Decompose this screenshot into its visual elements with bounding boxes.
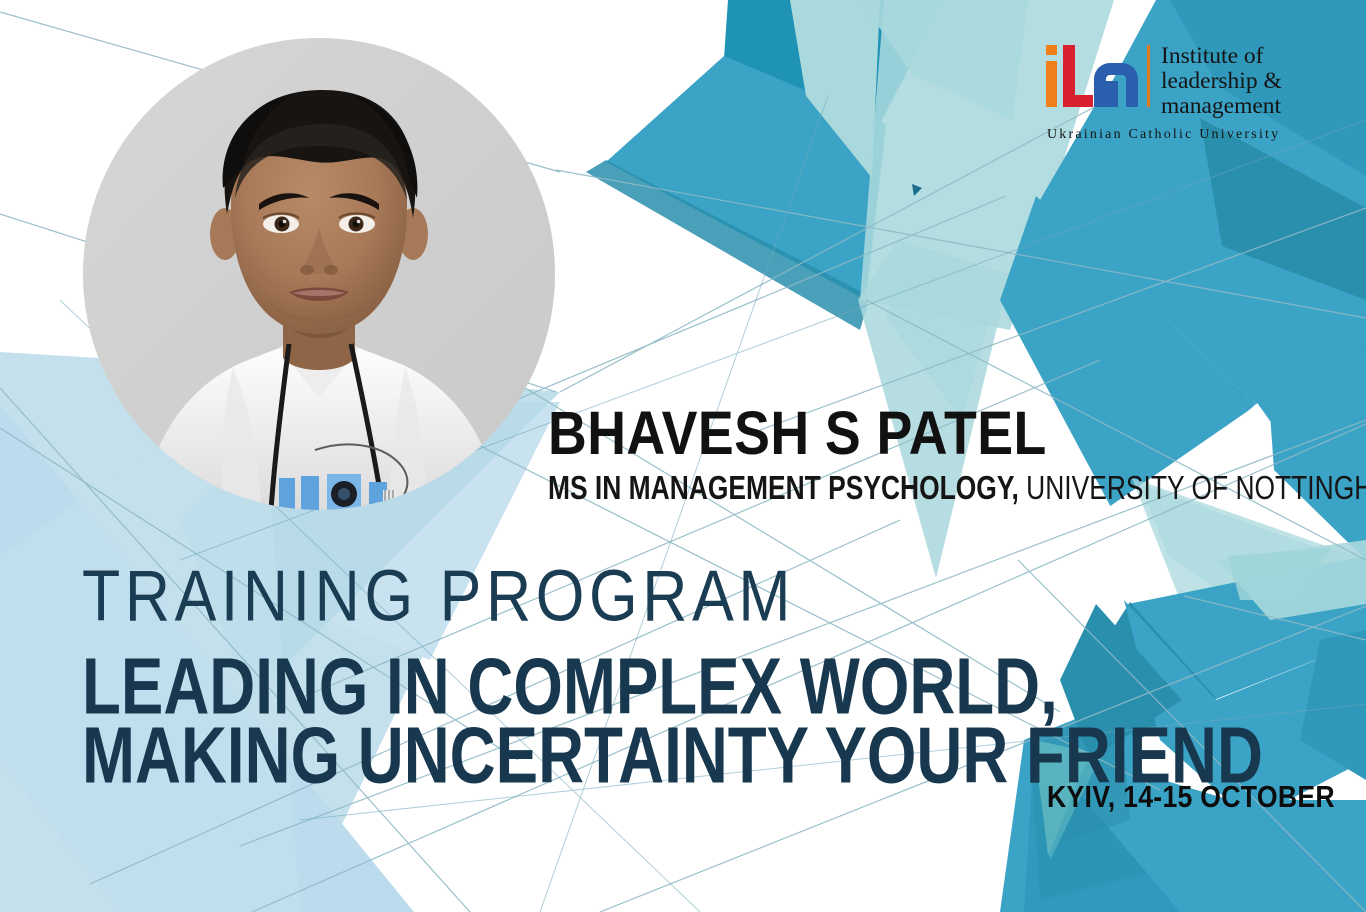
poster-canvas: BHAVESH S PATEL MS IN MANAGEMENT PSYCHOL…: [0, 0, 1366, 912]
logo-wordmark: Institute of leadership & management: [1161, 43, 1282, 119]
program-title-line-2: MAKING UNCERTAINTY YOUR FRIEND: [82, 719, 942, 793]
speaker-portrait: [83, 38, 555, 510]
logo-divider: [1147, 45, 1150, 107]
speaker-info-block: BHAVESH S PATEL MS IN MANAGEMENT PSYCHOL…: [548, 404, 1328, 504]
speaker-photo-illustration: [83, 38, 555, 510]
speaker-degree: MS IN MANAGEMENT PSYCHOLOGY,: [548, 469, 1019, 506]
speaker-credentials: MS IN MANAGEMENT PSYCHOLOGY, UNIVERSITY …: [548, 471, 1172, 504]
speaker-name: BHAVESH S PATEL: [548, 404, 1234, 464]
logo-subtitle: Ukrainian Catholic University: [1044, 127, 1294, 143]
program-eyebrow: TRAINING PROGRAM: [82, 560, 1002, 632]
event-place-date: KYIV, 14-15 OCTOBER: [1047, 781, 1335, 812]
logo-wordmark-line-3: management: [1161, 94, 1282, 119]
speaker-school: UNIVERSITY OF NOTTINGHAM.: [1019, 469, 1366, 506]
logo-wordmark-line-1: Institute of: [1161, 44, 1282, 69]
program-title: LEADING IN COMPLEX WORLD, MAKING UNCERTA…: [82, 650, 1082, 788]
logo-wordmark-line-2: leadership &: [1161, 69, 1282, 94]
logo-row: Institute of leadership & management: [1044, 43, 1294, 119]
ilm-logo: Institute of leadership & management Ukr…: [1044, 43, 1294, 143]
program-info-block: TRAINING PROGRAM LEADING IN COMPLEX WORL…: [82, 560, 1082, 788]
ilm-monogram-icon: [1044, 43, 1138, 109]
